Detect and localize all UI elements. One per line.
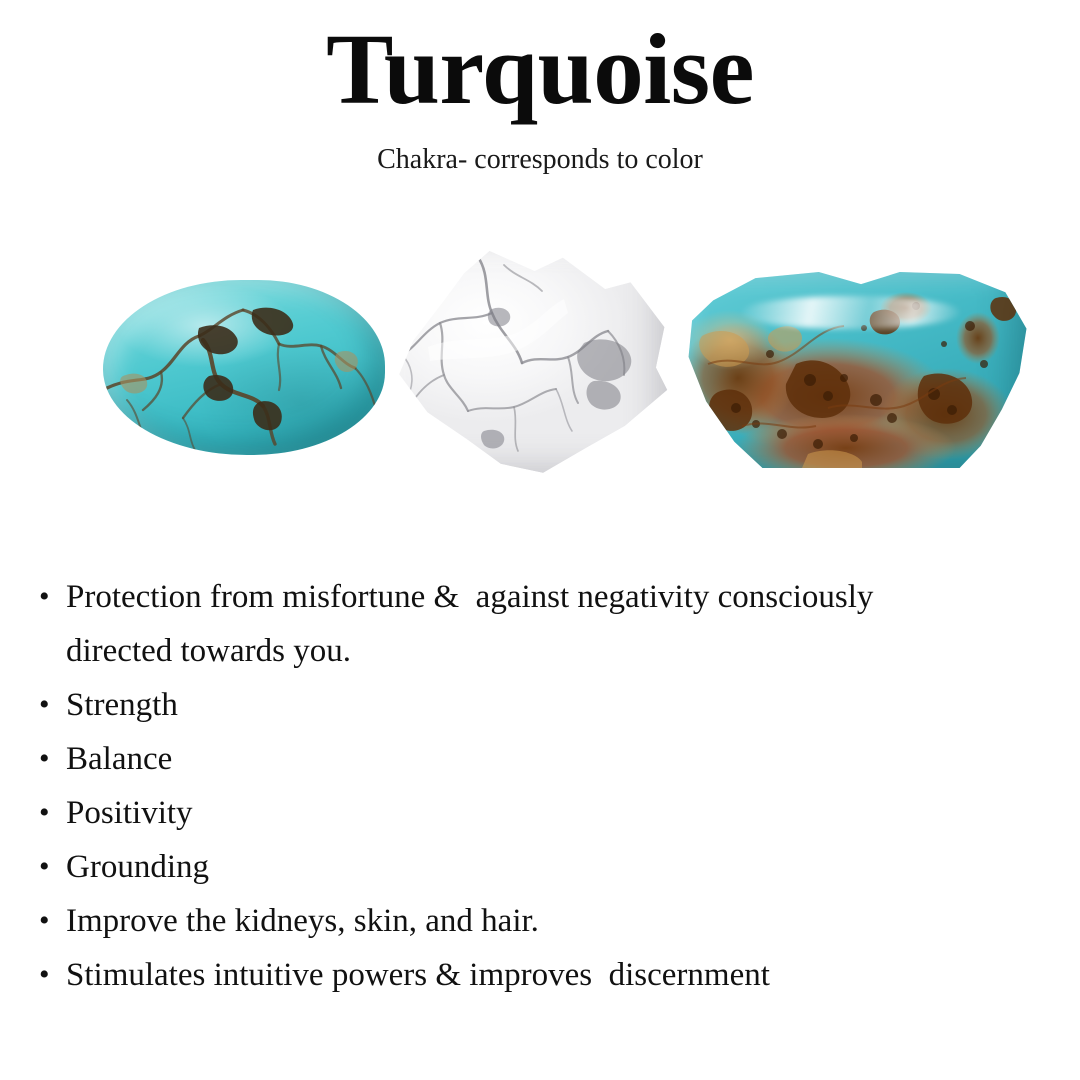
specular-highlight (741, 296, 959, 328)
list-item: Strength (38, 678, 1038, 732)
list-item: Stimulates intuitive powers & improves d… (38, 948, 1038, 1002)
page-header: Turquoise Chakra- corresponds to color (0, 0, 1080, 177)
list-item: Improve the kidneys, skin, and hair. (38, 894, 1038, 948)
stone-image-polished-turquoise-matrix (678, 268, 1030, 470)
stone-image-raw-howlite (388, 251, 670, 475)
page-title: Turquoise (0, 18, 1080, 121)
benefits-list: Protection from misfortune & against neg… (38, 570, 1038, 1002)
page-subtitle: Chakra- corresponds to color (0, 143, 1080, 177)
list-item: Protection from misfortune & against neg… (38, 570, 1038, 678)
list-item: Balance (38, 732, 1038, 786)
turquoise-matrix-veins-icon (103, 280, 385, 455)
stone-gallery (0, 235, 1080, 485)
list-item: Grounding (38, 840, 1038, 894)
list-item: Positivity (38, 786, 1038, 840)
howlite-grey-veins-icon (388, 251, 670, 475)
howlite-body (388, 251, 670, 475)
turquoise-slab-body (678, 268, 1030, 470)
stone-image-tumbled-turquoise (103, 280, 385, 455)
